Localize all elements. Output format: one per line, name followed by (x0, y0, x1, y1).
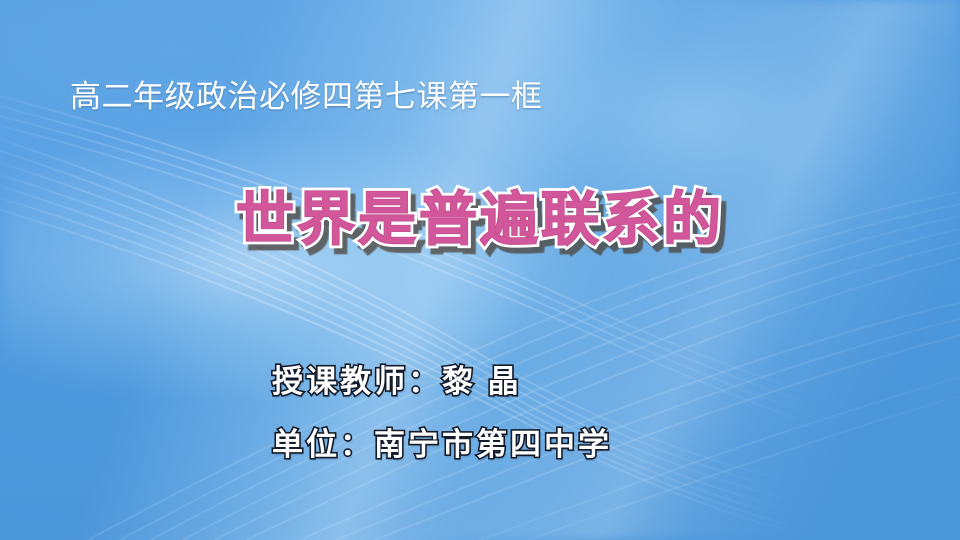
presentation-slide: 高二年级政治必修四第七课第一框 世界是普遍联系的 世界是普遍联系的 世界是普遍联… (0, 0, 960, 540)
page-title-text: 世界是普遍联系的 (236, 187, 724, 252)
page-title-stack: 世界是普遍联系的 世界是普遍联系的 世界是普遍联系的 (236, 186, 724, 254)
page-title: 世界是普遍联系的 世界是普遍联系的 世界是普遍联系的 (0, 186, 960, 254)
teacher-credit: 授课教师：黎 晶 (272, 356, 522, 401)
school-credit: 单位：南宁市第四中学 (272, 419, 612, 464)
course-subtitle: 高二年级政治必修四第七课第一框 (70, 79, 543, 115)
